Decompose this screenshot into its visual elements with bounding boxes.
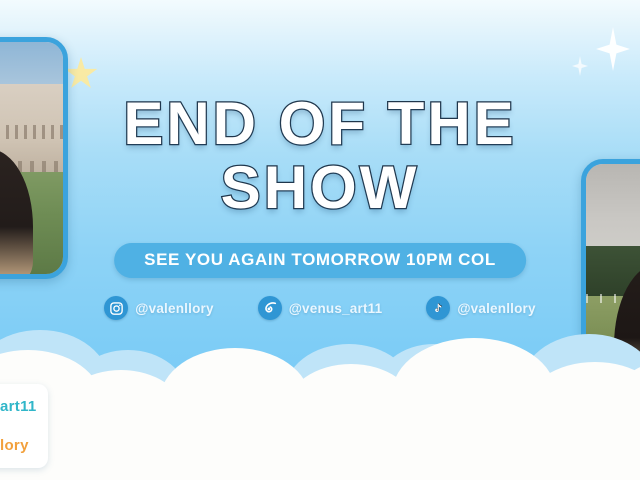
social-tiktok[interactable]: @valenllory	[426, 296, 535, 320]
headline-line-1: END OF THE	[0, 96, 640, 152]
instagram-icon	[104, 296, 128, 320]
social-handle-comet: @venus_art11	[289, 301, 383, 316]
cloud-layer-front	[0, 372, 640, 480]
overlay-fragment-lory: lory	[0, 437, 29, 454]
social-comet[interactable]: @venus_art11	[258, 296, 383, 320]
end-of-show-banner: END OF THE SHOW SEE YOU AGAIN TOMORROW 1…	[0, 0, 640, 480]
comet-icon	[258, 296, 282, 320]
social-handles-row: @valenllory @venus_art11 @valenllory	[0, 296, 640, 320]
headline-line-2: SHOW	[0, 160, 640, 216]
tiktok-icon	[426, 296, 450, 320]
overlay-ghost-card	[0, 384, 48, 468]
social-instagram[interactable]: @valenllory	[104, 296, 213, 320]
subtitle-pill: SEE YOU AGAIN TOMORROW 10PM COL	[114, 243, 526, 278]
sparkle-top-right-icon	[596, 27, 630, 71]
overlay-fragment-art11: art11	[0, 398, 37, 415]
photo-card-left-image	[0, 42, 63, 274]
star-top-left-icon	[64, 57, 98, 91]
social-handle-instagram: @valenllory	[135, 301, 213, 316]
social-handle-tiktok: @valenllory	[457, 301, 535, 316]
photo-card-left[interactable]	[0, 37, 68, 279]
sparkle-right-upper-icon	[572, 56, 588, 76]
